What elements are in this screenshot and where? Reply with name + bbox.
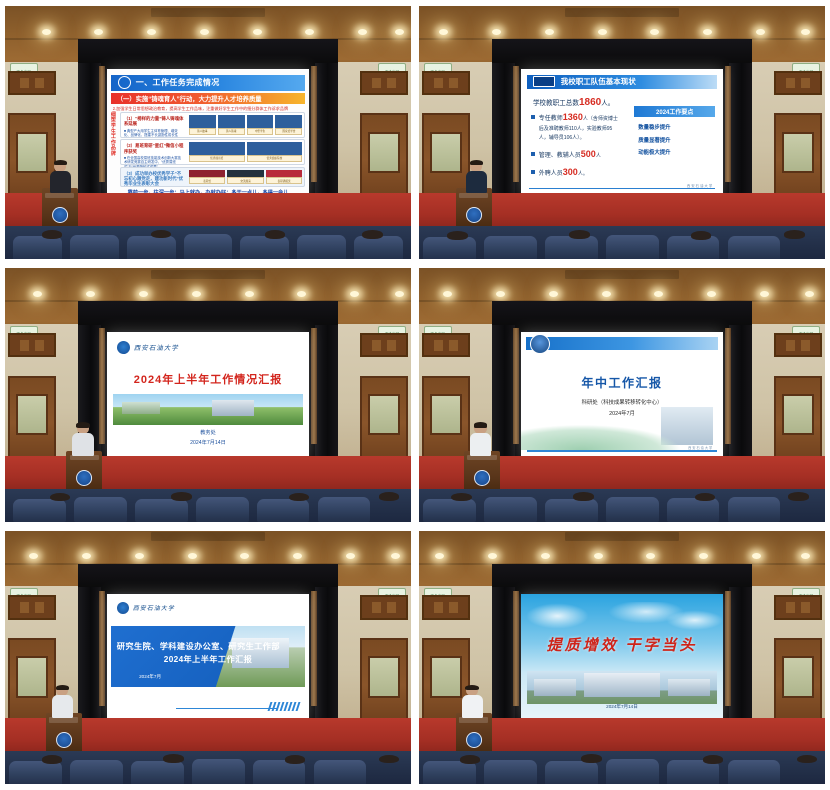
photo-thumb	[266, 170, 302, 177]
stage-curtain-right	[315, 63, 338, 209]
audience-area	[5, 226, 411, 259]
audience-head	[695, 493, 715, 502]
photo-item: 优秀组织院校	[247, 142, 303, 161]
slide-3: 西安石油大学 2024年上半年工作情况汇报 教务处 2024年7月14日	[107, 332, 310, 459]
decor-pillar	[513, 591, 519, 706]
door-transom	[422, 333, 470, 357]
photo-item: 中坚学生	[247, 115, 274, 134]
university-logo-icon	[117, 602, 129, 614]
slide-header-bar: 我校职工队伍基本现状	[527, 75, 718, 89]
slide-1: 一、工作任务完成情况 （一）实施“铸魂育人”行动，大力提升人才培养质量 2.加强…	[107, 69, 310, 196]
right-wall: 安全出口	[748, 62, 825, 214]
logo-text: 西安石油大学	[133, 603, 175, 612]
block-photos: 铸人故事 铸人铸魂 中坚学生 国家奖学金	[187, 113, 304, 136]
audience-seat	[728, 236, 781, 260]
door-transom	[774, 71, 822, 95]
door-transom	[8, 595, 56, 619]
header-badge-icon	[118, 76, 131, 89]
stage-curtain-right	[729, 325, 752, 471]
slide-title: 2024年上半年工作情况汇报	[107, 371, 310, 387]
logo-text: 西安石油大学	[134, 342, 179, 352]
audience-seat	[667, 236, 720, 259]
panel-4-photo: 安全出口 安全出口 年中工作汇报	[419, 268, 825, 521]
audience-head	[460, 755, 480, 764]
presenter-hair	[54, 160, 68, 166]
university-emblem-icon	[466, 207, 482, 223]
stage-curtain-right	[315, 587, 338, 733]
presenter	[462, 685, 484, 718]
audience-head	[151, 230, 171, 239]
stage-curtain-right	[315, 325, 338, 471]
audience-head	[171, 492, 191, 501]
ceiling-panel	[565, 8, 679, 17]
audience-area	[5, 489, 411, 522]
photo-caption: 优秀展示奖	[189, 155, 245, 162]
presenter	[466, 161, 488, 194]
ceiling-lights	[419, 29, 825, 39]
door-glass	[430, 394, 462, 436]
decor-pillar	[311, 66, 317, 181]
projection-screen: 西安石油大学 研究生院、学科建设办公室、研究生工作部 2024年上半年工作汇报 …	[107, 594, 310, 721]
audience-area	[419, 226, 825, 259]
block-photos: 表彰式 交流展演 表彰通报奖	[187, 168, 304, 186]
presenter	[50, 161, 72, 194]
door-transom	[360, 595, 408, 619]
photo-thumb	[189, 170, 225, 177]
stage-frame: 我校职工队伍基本现状 学校教职工总数1860人。 专任教师1360人（含师资博士…	[492, 39, 752, 209]
slide-bottom-rule	[527, 450, 718, 451]
slide-slogan: 提质增效 干字当头	[521, 634, 724, 655]
audience-area	[419, 751, 825, 784]
bullet-prefix: 外聘人员	[539, 171, 563, 177]
photo-caption: 表彰式	[189, 177, 225, 184]
stage-frame: 西安石油大学 2024年上半年工作情况汇报 教务处 2024年7月14日	[78, 301, 338, 471]
block-title: （1）“榜样的力量”铸人铸魂体系延展	[124, 116, 184, 127]
audience-seat	[606, 235, 659, 259]
audience-seat	[423, 237, 476, 259]
presenter-body	[470, 433, 492, 456]
audience-area	[5, 751, 411, 784]
panel-1-photo: 安全出口 安全出口 一、工作任务完成情况 （一）实施“铸魂育人”行动，大	[5, 6, 411, 259]
campus-building	[212, 400, 254, 416]
slide-5: 西安石油大学 研究生院、学科建设办公室、研究生工作部 2024年上半年工作汇报 …	[107, 594, 310, 721]
photo-item: 优秀展示奖	[189, 142, 245, 161]
presenter-body	[72, 433, 94, 456]
podium-plate	[49, 717, 78, 722]
stage-curtain-right	[729, 63, 752, 209]
slide-2: 我校职工队伍基本现状 学校教职工总数1860人。 专任教师1360人（含师资博士…	[521, 69, 724, 196]
audience-seat	[484, 236, 537, 260]
bullet-number: 500	[581, 149, 596, 159]
slide-header-bar	[526, 337, 719, 350]
audience-seat	[70, 760, 123, 784]
ceiling-panel	[565, 532, 679, 541]
photo-caption: 表彰通报奖	[266, 177, 302, 184]
presenter	[470, 423, 492, 456]
podium-plate	[459, 193, 488, 198]
block-text: （2）易班育研“星红”微信小程序获奖 ■ 在全国高校易班技能技术创新大赛技术研发…	[121, 140, 187, 163]
podium	[42, 188, 79, 231]
right-wall: 安全出口	[334, 586, 411, 738]
photo-item: 表彰式	[189, 170, 225, 184]
bullet-suffix: 人	[596, 153, 601, 159]
campus-main-building	[584, 673, 660, 697]
podium-plate	[467, 455, 496, 460]
audience-head	[42, 230, 62, 239]
lead-number: 1860	[579, 97, 601, 108]
audience-seat	[9, 761, 62, 784]
slide-date: 2024年7月	[139, 674, 161, 680]
slide-logo: 西安石油大学	[117, 602, 175, 614]
audience-head	[379, 492, 399, 501]
audience-seat	[192, 759, 245, 784]
audience-head	[691, 231, 711, 240]
slide-logo: 西安石油大学	[117, 341, 179, 354]
door-glass	[430, 656, 462, 698]
right-wall: 安全出口	[748, 324, 825, 476]
audience-head	[42, 755, 62, 764]
door-glass	[368, 656, 400, 698]
lead-prefix: 学校教职工总数	[533, 100, 579, 107]
door-glass	[16, 132, 48, 174]
door-transom	[8, 71, 56, 95]
projection-screen: 我校职工队伍基本现状 学校教职工总数1860人。 专任教师1360人（含师资博士…	[521, 69, 724, 196]
slide-6: 提质增效 干字当头 2024年7月14日	[521, 594, 724, 721]
right-panel-header: 2024工作要点	[634, 106, 715, 116]
door-glass	[16, 656, 48, 698]
audience-seat	[70, 235, 119, 259]
projection-screen: 西安石油大学 2024年上半年工作情况汇报 教务处 2024年7月14日	[107, 332, 310, 459]
stage-valance	[492, 564, 752, 593]
university-logo-icon	[117, 341, 130, 354]
audience-head	[569, 230, 589, 239]
audience-seat	[545, 499, 598, 522]
presenter-hair	[474, 422, 488, 428]
audience-seat	[184, 234, 233, 259]
university-emblem-icon	[52, 207, 68, 223]
audience-seat	[127, 236, 176, 260]
audience-seat	[606, 497, 659, 522]
decor-pillar	[311, 328, 317, 443]
decor-pillar	[99, 328, 105, 443]
presenter-body	[50, 171, 72, 194]
podium	[456, 188, 493, 231]
presenter	[52, 685, 74, 718]
decor-pillar	[725, 591, 731, 706]
photo-item: 表彰通报奖	[266, 170, 302, 184]
ceiling-lights	[419, 291, 825, 301]
audience-seat	[423, 499, 476, 522]
door-glass	[782, 394, 814, 436]
slide-header-bar: 一、工作任务完成情况	[111, 75, 306, 92]
projection-screen: 一、工作任务完成情况 （一）实施“铸魂育人”行动，大力提升人才培养质量 2.加强…	[107, 69, 310, 196]
podium-plate	[45, 193, 74, 198]
audience-area	[419, 489, 825, 522]
decor-pillar	[99, 591, 105, 706]
door-transom	[8, 333, 56, 357]
photo-thumb	[227, 170, 263, 177]
audience-seat	[257, 499, 310, 522]
audience-seat	[667, 498, 720, 522]
stage-valance	[492, 39, 752, 68]
audience-seat	[74, 497, 127, 521]
photo-thumb	[218, 115, 245, 127]
bullet-item: 管理、教辅人员500人	[531, 148, 620, 162]
decor-pillar	[311, 591, 317, 706]
door-glass	[368, 132, 400, 174]
university-logo-icon	[533, 76, 555, 87]
audience-seat	[484, 497, 537, 521]
presenter-hair	[465, 685, 479, 691]
podium	[464, 451, 501, 494]
audience-head	[50, 493, 70, 502]
bullet-item: 专任教师1360人（含师资博士后及准聘教师110人，实验教师95人，辅导员106…	[531, 111, 620, 143]
audience-seat	[606, 759, 659, 784]
door-transom	[774, 333, 822, 357]
block-photos: 优秀展示奖 优秀组织院校	[187, 140, 304, 163]
sky-clouds	[521, 602, 724, 638]
audience-seat	[13, 499, 66, 522]
door-glass	[430, 132, 462, 174]
audience-seat	[253, 760, 306, 784]
audience-head	[784, 230, 804, 239]
bullet-item: 外聘人员300人。	[531, 166, 620, 180]
photo-caption: 中坚学生	[247, 128, 274, 135]
stage-valance	[492, 301, 752, 330]
photo-caption: 铸人铸魂	[218, 128, 245, 135]
slide-org: 科研处（科技成果转移转化中心）	[521, 398, 724, 406]
audience-head	[573, 492, 593, 501]
photo-thumb	[247, 115, 274, 127]
photo-thumb	[275, 115, 302, 127]
stage-frame: 西安石油大学 研究生院、学科建设办公室、研究生工作部 2024年上半年工作汇报 …	[78, 564, 338, 734]
stage-valance	[78, 564, 338, 593]
block-title: （3）成功举办校优秀学子“不忘初心跟党走，建功新时代”优秀毕业生表彰大会	[124, 171, 184, 187]
stage-frame: 提质增效 干字当头 2024年7月14日	[492, 564, 752, 734]
panel-2-photo: 安全出口 安全出口 我校职工队伍基本现状 学校	[419, 6, 825, 259]
presenter-body	[466, 171, 488, 194]
door-transom	[360, 333, 408, 357]
presenter-hair	[76, 422, 90, 428]
right-wall: 安全出口	[748, 586, 825, 738]
audience-head	[163, 754, 183, 763]
audience-head	[265, 230, 285, 239]
audience-seat	[314, 760, 367, 784]
bullet-number: 1360	[563, 112, 583, 122]
panel-6-photo: 安全出口 安全出口 提质增效 干字当头	[419, 531, 825, 784]
slide-subheader: （一）实施“铸魂育人”行动，大力提升人才培养质量	[111, 93, 306, 104]
slide-header-title: 一、工作任务完成情况	[136, 77, 220, 88]
ceiling-panel	[151, 8, 265, 17]
projection-screen: 年中工作汇报 科研处（科技成果转移转化中心） 2024年7月 西安石油大学	[521, 332, 724, 459]
slide-org: 教务处	[107, 429, 310, 436]
audience-seat	[545, 236, 598, 259]
photo-caption: 国家奖学金	[275, 128, 302, 135]
lead-suffix: 人。	[601, 100, 614, 107]
content-block: （2）易班育研“星红”微信小程序获奖 ■ 在全国高校易班技能技术创新大赛技术研发…	[120, 139, 305, 164]
slide-4: 年中工作汇报 科研处（科技成果转移转化中心） 2024年7月 西安石油大学	[521, 332, 724, 459]
decor-pillar	[725, 66, 731, 181]
door-transom	[422, 595, 470, 619]
decor-pillar	[513, 328, 519, 443]
audience-head	[788, 492, 808, 501]
photo-caption: 铸人故事	[189, 128, 216, 135]
decor-pillar	[99, 66, 105, 181]
presenter	[72, 423, 94, 456]
content-block: （1）“榜样的力量”铸人铸魂体系延展 ■ 典型产大用学生主体育管理、增效化、品牌…	[120, 112, 305, 137]
university-emblem-icon	[530, 334, 550, 354]
ceiling-panel	[151, 532, 265, 541]
campus-illustration	[527, 671, 718, 704]
bullet-prefix: 专任教师	[539, 116, 563, 122]
stage-valance	[78, 301, 338, 330]
presenter-hair	[56, 685, 70, 691]
photo-thumb	[247, 142, 303, 154]
stage-frame: 一、工作任务完成情况 （一）实施“铸魂育人”行动，大力提升人才培养质量 2.加强…	[78, 39, 338, 209]
university-emblem-icon	[56, 732, 72, 748]
photo-item: 交流展演	[227, 170, 263, 184]
stage-valance	[78, 39, 338, 68]
photo-thumb	[189, 142, 245, 154]
podium-plate	[70, 455, 99, 460]
decor-pillar	[725, 328, 731, 443]
ceiling-lights	[5, 29, 411, 39]
audience-seat	[297, 235, 346, 259]
audience-seat	[135, 499, 188, 522]
presenter-body	[52, 695, 74, 718]
stage-frame: 年中工作汇报 科研处（科技成果转移转化中心） 2024年7月 西安石油大学	[492, 301, 752, 471]
bullet-prefix: 管理、教辅人员	[539, 153, 581, 159]
audience-head	[362, 230, 382, 239]
door-transom	[774, 595, 822, 619]
slide-title-line2: 2024年上半年工作汇报	[107, 653, 310, 665]
slide-date: 2024年7月14日	[107, 439, 310, 446]
slide-side-label: 细塑学生工作品牌	[109, 113, 118, 158]
campus-photo-band	[113, 394, 304, 425]
audience-head	[451, 493, 471, 502]
audience-seat	[354, 236, 403, 259]
slide-bullets: 专任教师1360人（含师资博士后及准聘教师110人，实验教师95人，辅导员106…	[531, 111, 620, 185]
block-text: （1）“榜样的力量”铸人铸魂体系延展 ■ 典型产大用学生主体育管理、增效化、品牌…	[121, 113, 187, 136]
block-text: （3）成功举办校优秀学子“不忘初心跟党走，建功新时代”优秀毕业生表彰大会	[121, 168, 187, 186]
audience-head	[797, 755, 817, 764]
photo-caption: 交流展演	[227, 177, 263, 184]
slide-title-line1: 研究生院、学科建设办公室、研究生工作部	[117, 640, 280, 652]
slide-header-title: 我校职工队伍基本现状	[561, 76, 636, 87]
bullet-suffix: 人。	[578, 171, 588, 177]
ceiling-panel	[565, 270, 679, 279]
podium	[456, 713, 493, 756]
ceiling-lights	[5, 291, 411, 301]
slide-bottom-mark: 西安石油大学	[688, 445, 713, 450]
right-panel-item: 数量稳步提升	[638, 123, 670, 131]
audience-seat	[728, 760, 781, 784]
slide-date: 2024年7月14日	[521, 704, 724, 710]
university-emblem-icon	[474, 470, 490, 486]
right-panel-item: 质量显著提升	[638, 136, 670, 144]
audience-head	[447, 231, 467, 240]
audience-seat	[728, 497, 781, 521]
audience-head	[285, 755, 305, 764]
photo-item: 国家奖学金	[275, 115, 302, 134]
audience-seat	[240, 236, 289, 260]
right-wall: 安全出口	[334, 324, 411, 476]
audience-seat	[196, 497, 249, 522]
right-wall: 安全出口	[334, 62, 411, 214]
block-title: （2）易班育研“星红”微信小程序获奖	[124, 143, 184, 154]
audience-head	[703, 755, 723, 764]
audience-seat	[423, 761, 476, 784]
audience-head	[379, 755, 399, 764]
panel-3-photo: 安全出口 安全出口 西安石油大学 2024年上半年工作情况汇报	[5, 268, 411, 521]
decor-pillar	[513, 66, 519, 181]
projection-screen: 提质增效 干字当头 2024年7月14日	[521, 594, 724, 721]
panel-5-photo: 安全出口 安全出口 西安石油大学	[5, 531, 411, 784]
audience-seat	[131, 761, 184, 784]
decor-stripes	[269, 702, 299, 711]
presenter-body	[462, 695, 484, 718]
slide-bottom-rule	[176, 708, 277, 709]
ceiling-lights	[419, 553, 825, 563]
photo-item: 铸人铸魂	[218, 115, 245, 134]
photo-item: 铸人故事	[189, 115, 216, 134]
audience-seat	[667, 760, 720, 784]
campus-building	[122, 402, 160, 414]
photo-grid: 安全出口 安全出口 一、工作任务完成情况 （一）实施“铸魂育人”行动，大	[0, 0, 830, 790]
slide-date: 2024年7月	[521, 409, 724, 417]
door-transom	[360, 71, 408, 95]
university-emblem-icon	[76, 470, 92, 486]
block-desc: ■ 典型产大用学生主体育管理、增效化、品牌化，搭建不长激励性成长性	[124, 129, 184, 138]
slide-title: 年中工作汇报	[521, 374, 724, 391]
audience-seat	[545, 761, 598, 784]
bullet-number: 300	[563, 167, 578, 177]
door-glass	[782, 132, 814, 174]
door-glass	[16, 394, 48, 436]
ceiling-panel	[151, 270, 265, 279]
audience-head	[581, 754, 601, 763]
photo-caption: 优秀组织院校	[247, 155, 303, 162]
podium	[46, 713, 83, 756]
photo-thumb	[189, 115, 216, 127]
university-emblem-icon	[466, 732, 482, 748]
door-glass	[368, 394, 400, 436]
door-glass	[782, 656, 814, 698]
audience-head	[289, 493, 309, 502]
door-transom	[422, 71, 470, 95]
campus-building	[668, 679, 710, 696]
podium-plate	[459, 717, 488, 722]
slide-bottom-mark: 西安石油大学	[687, 183, 713, 188]
audience-seat	[13, 236, 62, 259]
slide-lead: 学校教职工总数1860人。	[533, 97, 615, 108]
content-block: （3）成功举办校优秀学子“不忘初心跟党走，建功新时代”优秀毕业生表彰大会 表彰式…	[120, 167, 305, 187]
slide-note: 2.加强学生日常思想政治教育，提高学生工作品味，注重做好学生工作中的细分群体工作…	[113, 106, 306, 112]
stage-curtain-right	[729, 587, 752, 733]
campus-building	[534, 679, 576, 696]
right-panel-item: 动能极大提升	[638, 148, 670, 156]
audience-seat	[318, 497, 371, 521]
presenter-hair	[470, 160, 484, 166]
podium	[66, 451, 103, 494]
ceiling-lights	[5, 553, 411, 563]
slide-bottom-rule	[529, 188, 716, 189]
audience-seat	[484, 760, 537, 784]
